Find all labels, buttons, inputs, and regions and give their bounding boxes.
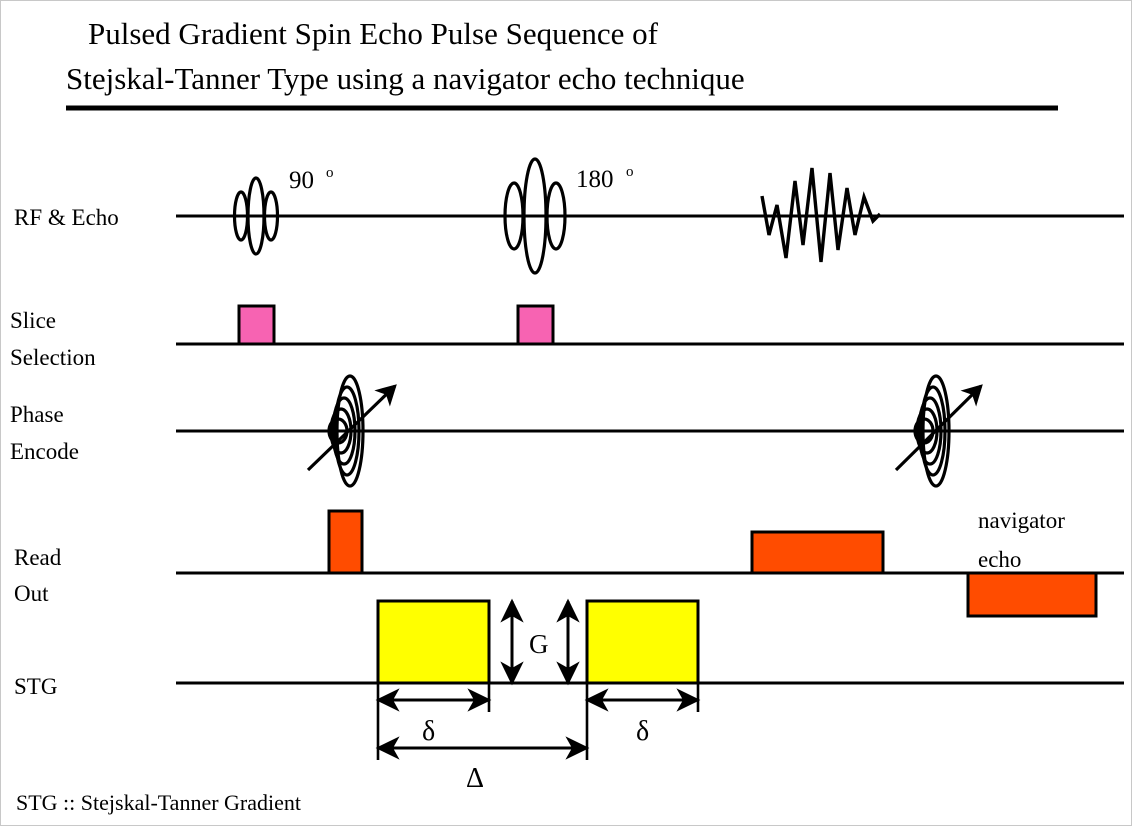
pulse-sequence-diagram: Pulsed Gradient Spin Echo Pulse Sequence…	[0, 0, 1132, 826]
stg-block-2	[587, 601, 698, 683]
figure-title-line2: Stejskal-Tanner Type using a navigator e…	[66, 61, 745, 96]
navigator-echo-label-line2: echo	[978, 547, 1021, 572]
flip-angle-90-degree-icon: o	[326, 165, 334, 181]
row-label-slice-selection-1: Slice	[10, 308, 56, 333]
readout-navigator-block	[968, 573, 1096, 616]
row-label-rf-echo: RF & Echo	[14, 205, 119, 230]
big-delta-label: Δ	[466, 763, 484, 794]
figure-title-line1: Pulsed Gradient Spin Echo Pulse Sequence…	[88, 16, 659, 51]
row-label-slice-selection-2: Selection	[10, 345, 96, 370]
slice-select-block-2	[518, 306, 553, 344]
footnote-legend: STG :: Stejskal-Tanner Gradient	[16, 790, 301, 815]
delta-1-label: δ	[422, 716, 435, 747]
stg-block-1	[378, 601, 489, 683]
gradient-amplitude-label: G	[529, 629, 549, 659]
flip-angle-90-label: 90	[289, 167, 314, 194]
readout-acquire-block	[752, 532, 883, 573]
flip-angle-180-label: 180	[576, 166, 614, 193]
navigator-echo-label-line1: navigator	[978, 508, 1065, 533]
row-label-read-out-2: Out	[14, 581, 49, 606]
row-label-stg: STG	[14, 674, 57, 699]
delta-2-label: δ	[636, 716, 649, 747]
row-label-read-out-1: Read	[14, 545, 62, 570]
flip-angle-180-degree-icon: o	[626, 164, 634, 180]
row-label-phase-encode-2: Encode	[10, 439, 79, 464]
readout-dephase-block	[329, 511, 362, 573]
slice-select-block-1	[239, 306, 274, 344]
row-label-phase-encode-1: Phase	[10, 402, 64, 427]
